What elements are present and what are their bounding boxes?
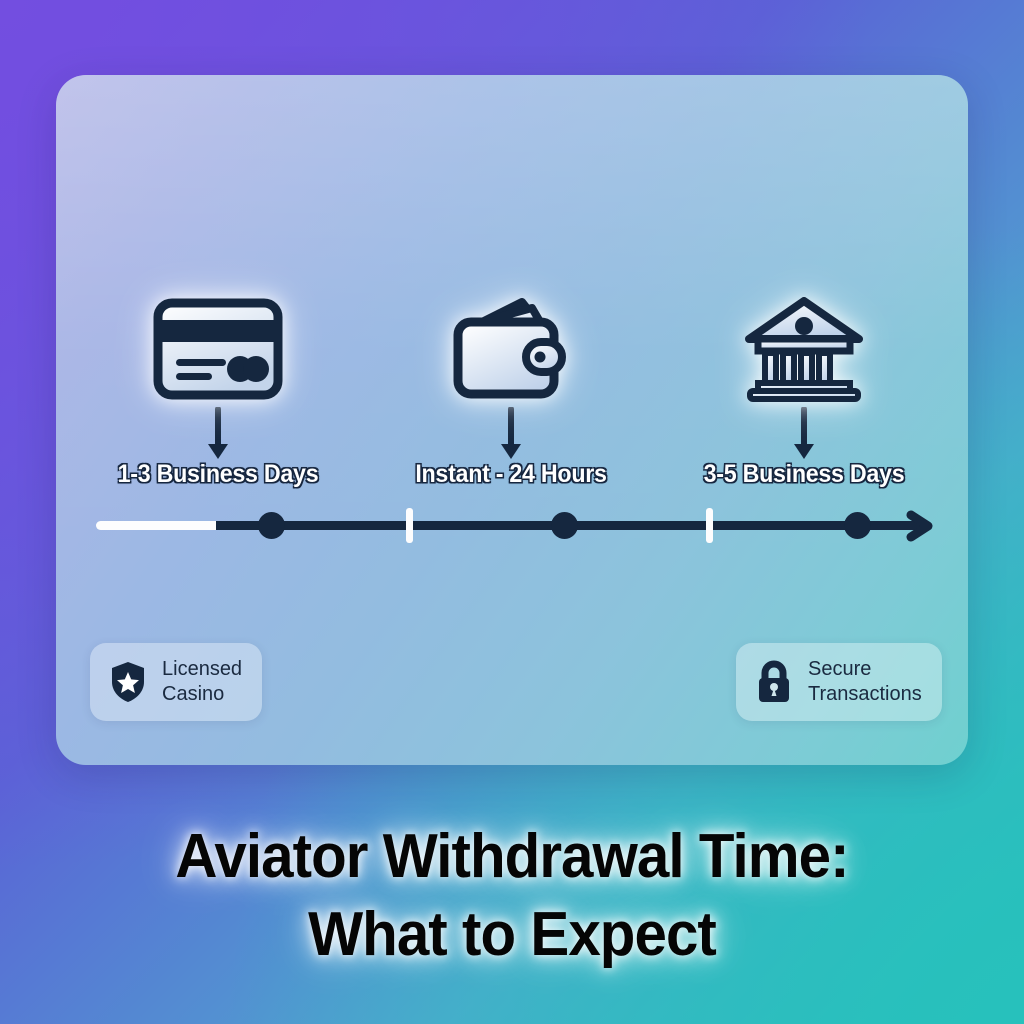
lock-icon — [754, 660, 794, 704]
axis-tick-1 — [406, 508, 413, 543]
credit-card-icon — [98, 293, 338, 405]
axis-marker-credit-card[interactable] — [258, 512, 285, 539]
badge-licensed-casino[interactable]: Licensed Casino — [90, 643, 262, 721]
axis-marker-ewallet[interactable] — [551, 512, 578, 539]
badge-secure-transactions-label: Secure Transactions — [808, 657, 922, 707]
axis-line-start-segment — [96, 521, 228, 530]
down-arrow-icon — [98, 405, 338, 467]
arrow-right-icon — [904, 510, 936, 542]
timeline-axis — [96, 505, 934, 545]
timeline-step-credit-card[interactable] — [98, 293, 338, 467]
down-arrow-icon — [391, 405, 631, 467]
timeline-label-ewallet: Instant - 24 Hours — [372, 460, 651, 489]
withdrawal-timeline: 1-3 Business Days — [56, 75, 968, 765]
bank-icon — [684, 293, 924, 405]
timeline-step-ewallet[interactable] — [391, 293, 631, 467]
timeline-label-bank: 3-5 Business Days — [665, 460, 944, 489]
badge-licensed-casino-label: Licensed Casino — [162, 657, 242, 707]
axis-marker-bank[interactable] — [844, 512, 871, 539]
shield-star-icon — [108, 660, 148, 704]
timeline-label-credit-card: 1-3 Business Days — [79, 460, 358, 489]
infographic-card: 1-3 Business Days — [56, 75, 968, 765]
down-arrow-icon — [684, 405, 924, 467]
axis-tick-2 — [706, 508, 713, 543]
badge-secure-transactions[interactable]: Secure Transactions — [736, 643, 942, 721]
timeline-step-bank[interactable] — [684, 293, 924, 467]
wallet-icon — [391, 293, 631, 405]
page-title: Aviator Withdrawal Time: What to Expect — [31, 818, 994, 974]
